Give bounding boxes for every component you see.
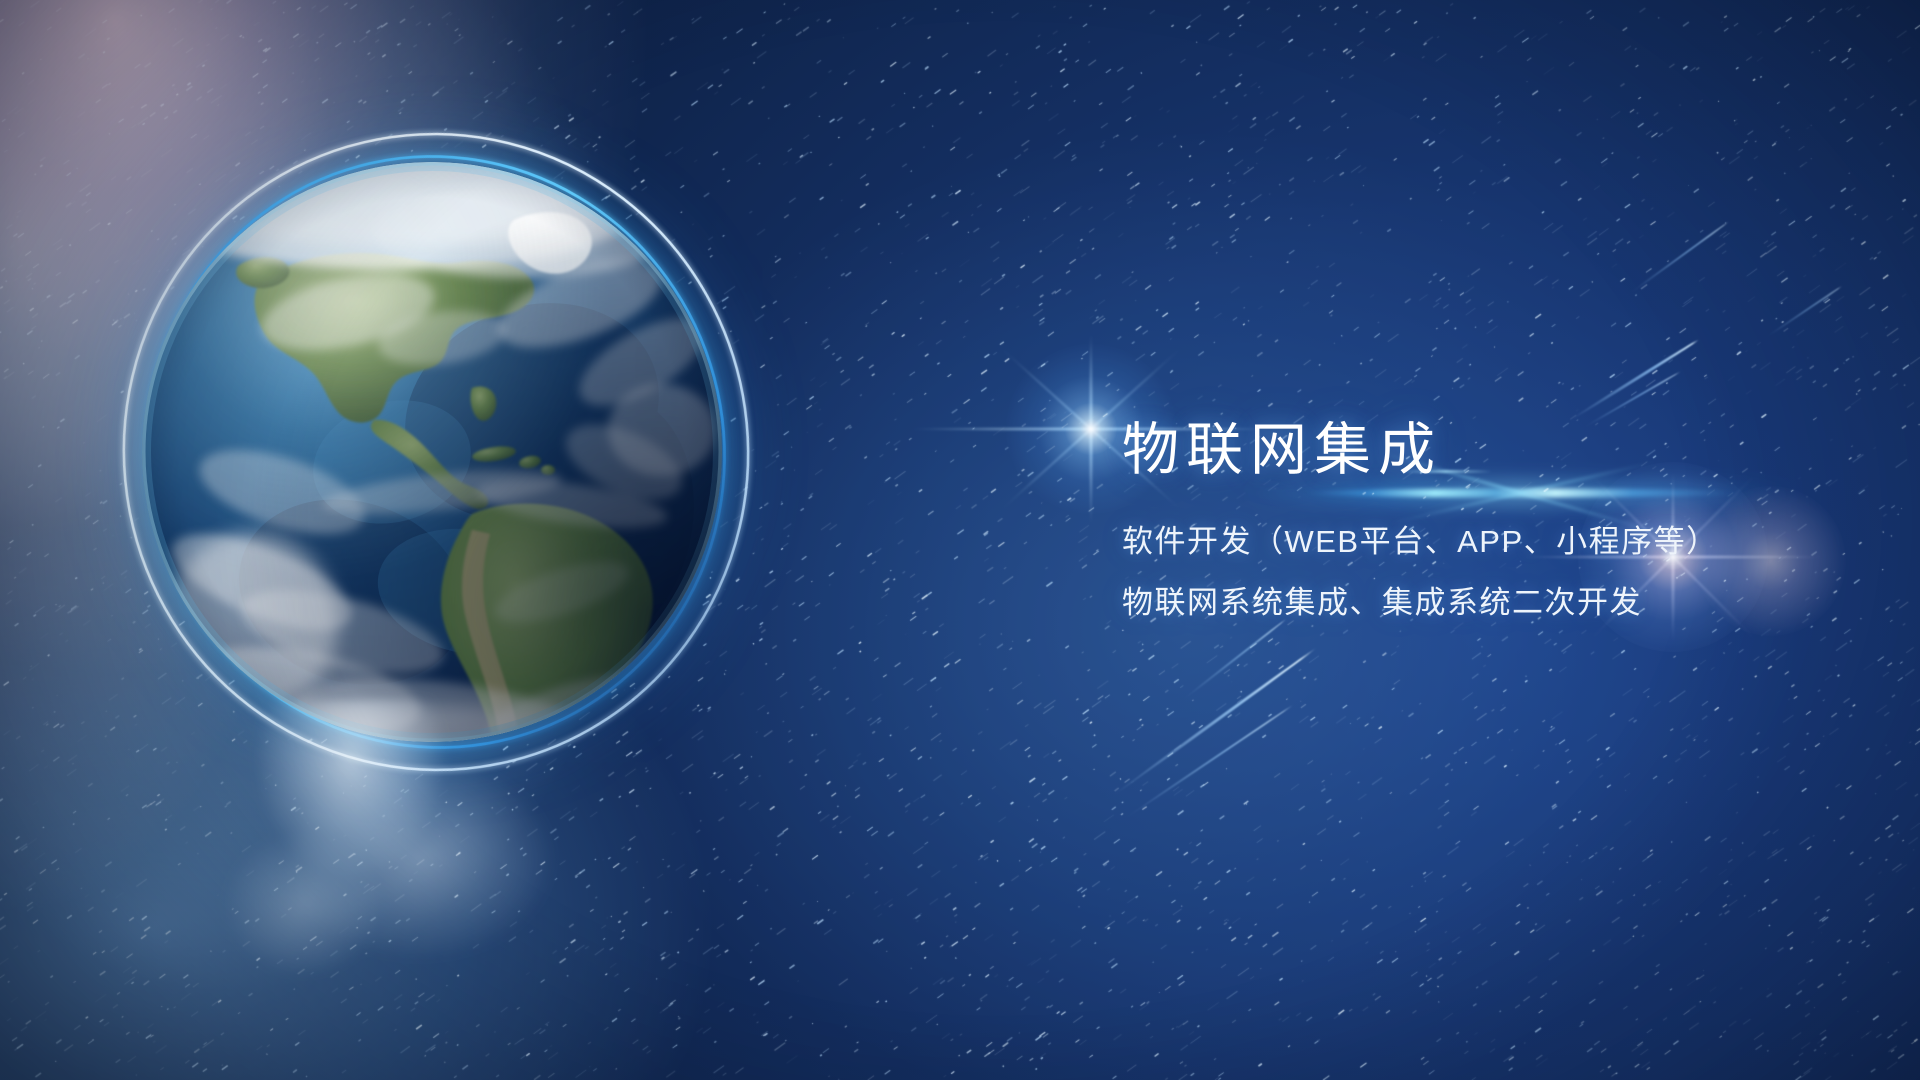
banner-stage: 物联网集成 软件开发（WEB平台、APP、小程序等） 物联网系统集成、集成系统二…	[0, 0, 1920, 1080]
meteor-streak-2	[1127, 704, 1294, 817]
globe-sphere	[142, 162, 722, 742]
banner-subtitle-line-1: 软件开发（WEB平台、APP、小程序等）	[1122, 526, 1842, 557]
meteor-streak-5	[1631, 221, 1729, 293]
banner-text-block: 物联网集成 软件开发（WEB平台、APP、小程序等） 物联网系统集成、集成系统二…	[1122, 420, 1842, 618]
lens-flare-title-left	[1090, 428, 1092, 430]
meteor-streak-4	[1585, 371, 1681, 428]
meteor-streak-7	[1183, 618, 1287, 700]
banner-subtitle-line-2: 物联网系统集成、集成系统二次开发	[1122, 587, 1842, 618]
meteor-streak-3	[1571, 338, 1700, 420]
page-title: 物联网集成	[1122, 420, 1842, 482]
meteor-streak-6	[1767, 285, 1843, 337]
earth-globe	[142, 162, 722, 742]
meteor-streak-1	[1113, 647, 1317, 796]
